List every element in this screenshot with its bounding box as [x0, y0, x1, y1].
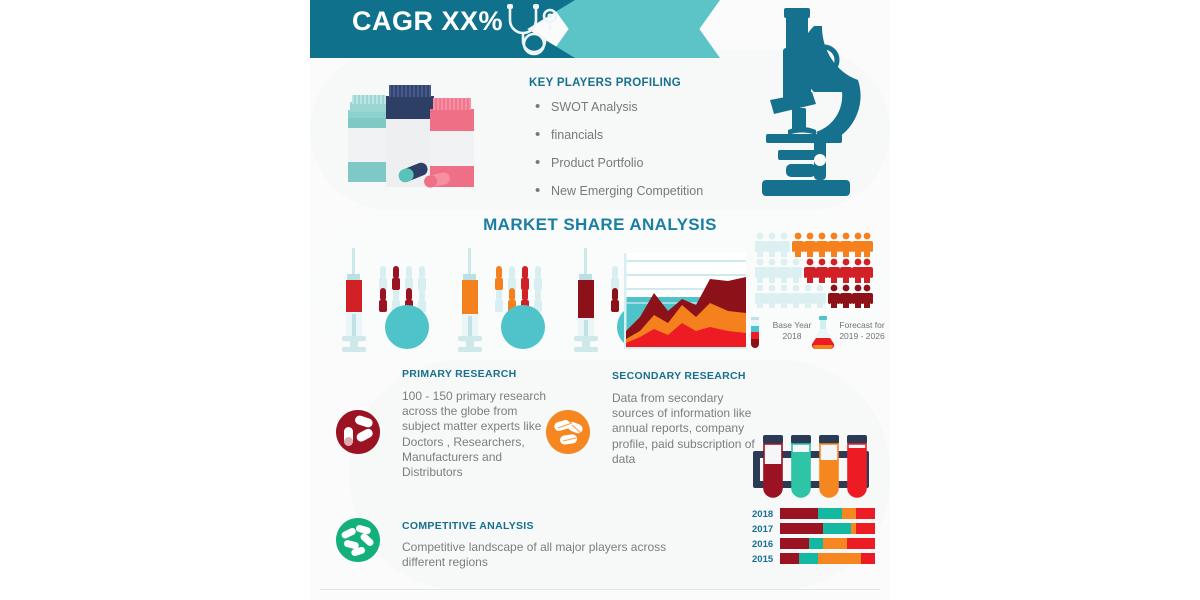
cagr-ribbon: CAGR XX%: [310, 0, 710, 58]
year-label: 2015: [752, 554, 773, 565]
bar-segment: [780, 523, 823, 534]
table-row: [780, 553, 875, 564]
legend-forecast: Forecast for 2019 - 2026: [830, 320, 894, 342]
year-label: 2017: [752, 524, 773, 535]
test-tube-icon: [748, 317, 762, 351]
tablet-circle-icon: [546, 410, 590, 454]
capsule-circle-icon: [336, 410, 380, 454]
pill-bottles-icon: [340, 82, 490, 192]
bottom-divider: [320, 589, 880, 590]
table-row: [780, 538, 875, 549]
bar-segment: [861, 553, 875, 564]
competitive-analysis-title: COMPETITIVE ANALYSIS: [402, 520, 534, 532]
bar-segment: [823, 538, 847, 549]
pictogram-people-chart: [755, 232, 873, 308]
microscope-icon: [752, 4, 876, 200]
ribbon-light-tail: [548, 0, 720, 58]
secondary-research-body: Data from secondary sources of informati…: [612, 391, 760, 467]
primary-research-title: PRIMARY RESEARCH: [402, 368, 516, 380]
bar-segment: [799, 553, 818, 564]
secondary-research-title: SECONDARY RESEARCH: [612, 370, 746, 382]
bar-segment: [856, 523, 875, 534]
capsules-circle-icon: [336, 518, 380, 562]
primary-research-body: 100 - 150 primary research across the gl…: [402, 389, 547, 480]
year-label: 2018: [752, 509, 773, 520]
bar-segment: [780, 538, 809, 549]
bar-segment: [818, 508, 842, 519]
stethoscope-icon: [500, 2, 572, 56]
list-item: Product Portfolio: [529, 156, 744, 170]
table-row: [780, 523, 875, 534]
market-bubble: [385, 305, 429, 349]
key-players-list: SWOT Analysis financials Product Portfol…: [529, 100, 744, 212]
bar-segment: [809, 538, 823, 549]
bar-segment: [847, 538, 876, 549]
table-row: [780, 508, 875, 519]
bar-segment: [780, 508, 818, 519]
market-share-legend: Base Year 2018 Forecast for 2019 - 2026: [748, 315, 893, 351]
bar-segment: [842, 508, 856, 519]
test-tube-rack-icon: [745, 435, 885, 505]
bar-segment: [856, 508, 875, 519]
list-item: financials: [529, 128, 744, 142]
area-chart: [618, 253, 746, 349]
bar-segment: [818, 553, 861, 564]
market-bubble: [501, 305, 545, 349]
bar-segment: [823, 523, 852, 534]
key-players-title: KEY PLAYERS PROFILING: [529, 77, 681, 89]
competitive-analysis-body: Competitive landscape of all major playe…: [402, 540, 672, 570]
cagr-label: CAGR XX%: [352, 6, 503, 37]
list-item: New Emerging Competition: [529, 184, 744, 198]
list-item: SWOT Analysis: [529, 100, 744, 114]
year-label: 2016: [752, 539, 773, 550]
infographic-canvas: CAGR XX%: [0, 0, 1200, 600]
bar-segment: [780, 553, 799, 564]
